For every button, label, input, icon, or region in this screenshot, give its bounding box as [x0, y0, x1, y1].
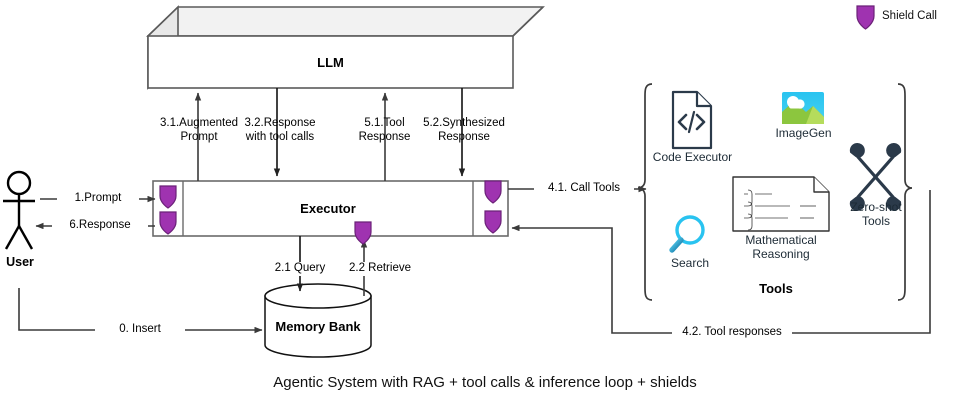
tools-group-brace-left — [638, 84, 652, 300]
tool-label-search: Search — [655, 256, 725, 270]
tool-label-mathematical-reasoning: Mathematical Reasoning — [722, 233, 840, 261]
tools-group-label: Tools — [716, 282, 836, 296]
tool-label-zero-shot-tools: Zero-shot Tools — [838, 200, 914, 228]
shield-executor-memory — [355, 222, 371, 244]
edge-label-2-2-retrieve: 2.2 Retrieve — [337, 262, 423, 276]
tools-group-brace-right — [898, 84, 912, 300]
edge-label-6-response: 6.Response — [52, 219, 148, 233]
memory-bank-label: Memory Bank — [265, 319, 371, 334]
tool-label-code-executor: Code Executor — [645, 150, 740, 164]
edge-label-0-insert: 0. Insert — [95, 323, 185, 337]
magnifier-icon — [672, 217, 703, 250]
edge-label-4-2-tool-responses: 4.2. Tool responses — [672, 326, 792, 340]
edge-label-3-2: 3.2.Response with tool calls — [220, 117, 340, 144]
edge-label-5-2: 5.2.Synthesized Response — [405, 117, 523, 144]
tool-label-imagegen: ImageGen — [761, 126, 846, 140]
math-document-icon — [733, 177, 829, 231]
llm-label: LLM — [148, 55, 513, 70]
llm-node[interactable] — [148, 7, 543, 88]
user-actor[interactable] — [3, 172, 35, 249]
edge-label-4-1-call-tools: 4.1. Call Tools — [534, 182, 634, 196]
edge-label-1-prompt: 1.Prompt — [57, 192, 139, 206]
edge-label-2-1-query: 2.1 Query — [262, 262, 338, 276]
code-document-icon — [673, 92, 711, 148]
executor-label: Executor — [183, 201, 473, 216]
user-label: User — [0, 256, 40, 270]
legend-shield-label: Shield Call — [882, 10, 937, 22]
image-icon — [782, 92, 824, 124]
diagram-caption: Agentic System with RAG + tool calls & i… — [0, 374, 970, 391]
shield-legend-icon — [857, 6, 874, 29]
diagram-canvas: LLM Executor Memory Bank User 3.1.Augmen… — [0, 0, 970, 411]
